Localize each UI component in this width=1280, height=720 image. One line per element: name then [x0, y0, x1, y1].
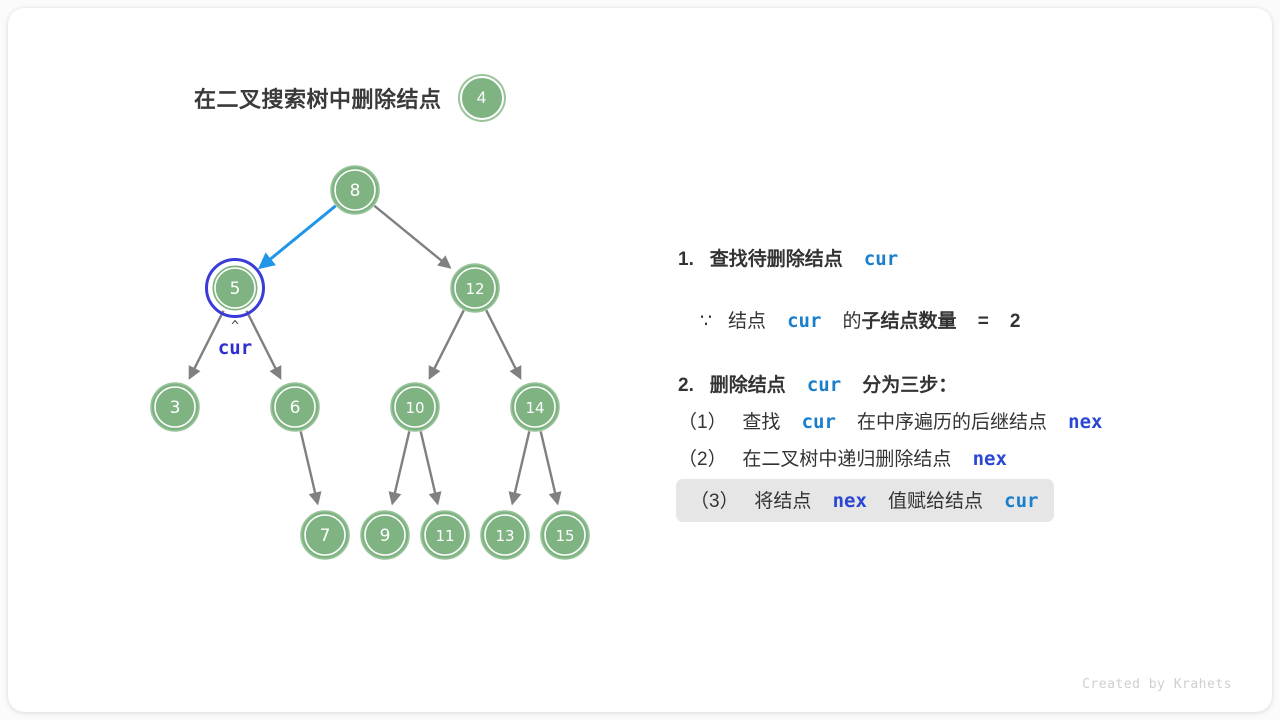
node-label: 12 — [465, 280, 484, 298]
tree-edge — [261, 206, 336, 267]
node-label: 9 — [380, 526, 391, 546]
cur-pointer-label: cur — [218, 337, 252, 359]
tree-node-5: 5 — [207, 260, 264, 317]
substep-2-text-a: 在二叉树中递归删除结点 — [742, 449, 951, 470]
tree-nodes: 851236101479111315 — [151, 166, 589, 559]
binary-search-tree-diagram: 851236101479111315 ^ cur — [0, 0, 660, 620]
step-1-code-cur: cur — [864, 248, 898, 270]
tree-edge — [374, 206, 449, 267]
substep-3-text-b: 值赋给结点 — [888, 491, 983, 512]
step-1-line: 1. 查找待删除结点 cur — [678, 244, 898, 271]
tree-node-13: 13 — [481, 511, 529, 559]
cur-pointer: ^ cur — [218, 319, 252, 359]
tree-edge — [430, 310, 464, 377]
reason-line: ∵ 结点 cur 的子结点数量 = 2 — [678, 306, 1021, 333]
node-label: 7 — [320, 526, 331, 546]
tree-edge — [301, 431, 318, 503]
substep-2-index: （2） — [678, 449, 727, 470]
tree-node-3: 3 — [151, 383, 199, 431]
substep-3-code-nex: nex — [833, 490, 867, 512]
tree-edge — [393, 431, 410, 503]
step-2-line: 2. 删除结点 cur 分为三步： — [678, 370, 957, 397]
step-2-code-cur: cur — [807, 374, 841, 396]
substep-1-code-cur: cur — [802, 411, 836, 433]
footer-credit: Created by Krahets — [1082, 677, 1232, 692]
reason-equals: = — [978, 311, 989, 332]
node-label: 5 — [230, 279, 241, 299]
screenshot-root: 在二叉搜索树中删除结点 4 851236101479111315 ^ cur 1… — [0, 0, 1280, 720]
node-label: 6 — [290, 398, 301, 418]
step-1-number: 1. — [678, 249, 694, 270]
tree-node-8: 8 — [331, 166, 379, 214]
step-2-text-a: 删除结点 — [710, 375, 786, 396]
substep-3-code-cur: cur — [1004, 490, 1038, 512]
tree-edge — [486, 310, 520, 377]
tree-node-7: 7 — [301, 511, 349, 559]
node-label: 3 — [170, 398, 181, 418]
substep-1-code-nex: nex — [1068, 411, 1102, 433]
node-label: 8 — [350, 181, 361, 201]
node-label: 15 — [555, 527, 574, 545]
step-2-number: 2. — [678, 375, 694, 396]
substep-1-line: （1） 查找 cur 在中序遍历的后继结点 nex — [678, 407, 1102, 434]
substep-1-text-b: 在中序遍历的后继结点 — [857, 412, 1047, 433]
reason-value: 2 — [1010, 311, 1021, 332]
tree-edge — [541, 431, 558, 503]
node-label: 11 — [435, 527, 454, 545]
because-symbol: ∵ — [700, 311, 712, 332]
substep-3-index: （3） — [690, 491, 739, 512]
tree-node-15: 15 — [541, 511, 589, 559]
substep-1-index: （1） — [678, 412, 727, 433]
tree-edge — [421, 431, 438, 503]
tree-node-10: 10 — [391, 383, 439, 431]
tree-node-14: 14 — [511, 383, 559, 431]
tree-node-6: 6 — [271, 383, 319, 431]
step-2-text-b: 分为三步： — [862, 375, 957, 396]
tree-node-9: 9 — [361, 511, 409, 559]
substep-1-text-a: 查找 — [742, 412, 780, 433]
substep-2-line: （2） 在二叉树中递归删除结点 nex — [678, 444, 1007, 471]
substep-2-code-nex: nex — [973, 448, 1007, 470]
node-label: 10 — [405, 399, 424, 417]
reason-code-cur: cur — [787, 310, 821, 332]
node-label: 13 — [495, 527, 514, 545]
tree-node-12: 12 — [451, 264, 499, 312]
reason-text-b-bold: 子结点数量 — [862, 311, 957, 332]
step-1-text: 查找待删除结点 — [710, 249, 843, 270]
node-label: 14 — [525, 399, 544, 417]
tree-edge — [513, 431, 530, 503]
reason-text-b: 的 — [843, 311, 862, 332]
substep-3-line-highlighted: （3） 将结点 nex 值赋给结点 cur — [676, 479, 1054, 522]
cur-pointer-caret: ^ — [231, 319, 239, 334]
reason-text-a: 结点 — [728, 311, 766, 332]
substep-3-text-a: 将结点 — [754, 491, 811, 512]
tree-node-11: 11 — [421, 511, 469, 559]
